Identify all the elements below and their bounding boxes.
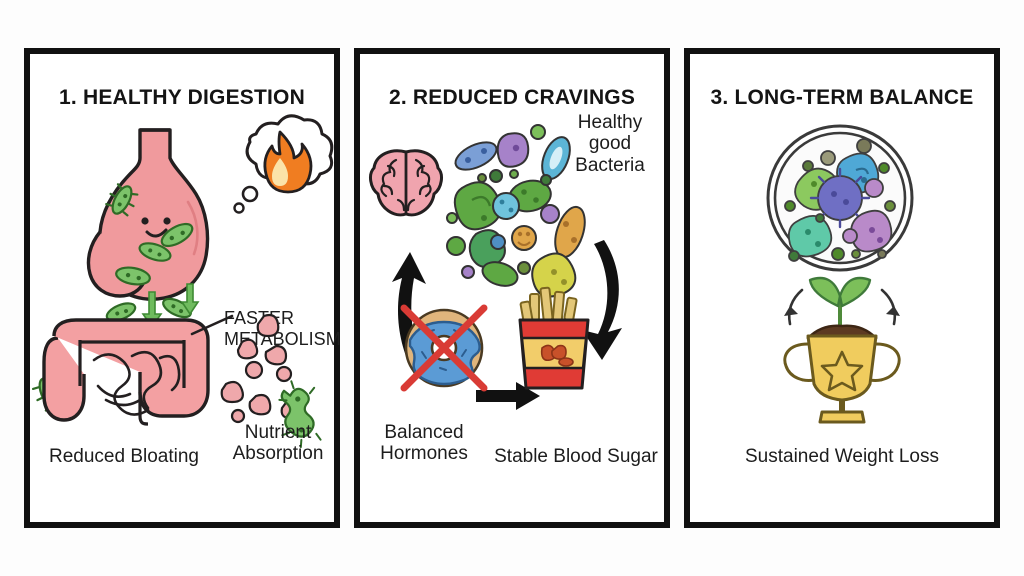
trophy-base bbox=[820, 412, 864, 422]
panel-title: 1. HEALTHY DIGESTION bbox=[30, 86, 334, 110]
fries-sticks bbox=[520, 288, 577, 323]
panel-title: 3. LONG-TERM BALANCE bbox=[690, 86, 994, 110]
digestive-system-illustration bbox=[36, 124, 246, 424]
panel-title: 2. REDUCED CRAVINGS bbox=[360, 86, 664, 110]
panel-long-term-balance: 3. LONG-TERM BALANCE bbox=[684, 48, 1000, 528]
caption-reduced-bloating: Reduced Bloating bbox=[34, 446, 214, 467]
thought-bubble-small bbox=[235, 204, 244, 213]
curved-arrow-right-icon bbox=[882, 290, 900, 324]
panel-healthy-digestion: 1. HEALTHY DIGESTION bbox=[24, 48, 340, 528]
caption-stable-blood-sugar: Stable Blood Sugar bbox=[478, 446, 674, 467]
caption-sustained-weight-loss: Sustained Weight Loss bbox=[690, 446, 994, 467]
trophy-icon bbox=[772, 272, 912, 432]
healthy-good-bacteria-label: Healthy good Bacteria bbox=[556, 112, 664, 176]
donut-crossed-out-icon bbox=[396, 300, 492, 396]
intestines-icon bbox=[44, 320, 208, 424]
thought-bubble-large bbox=[243, 187, 257, 201]
fries-packet-icon bbox=[506, 286, 606, 396]
stomach-eye-left bbox=[141, 217, 148, 224]
curved-arrow-left-icon bbox=[784, 290, 802, 324]
flame-thought-bubble-icon bbox=[226, 116, 336, 236]
petri-dish-icon bbox=[764, 122, 916, 274]
caption-nutrient-absorption: Nutrient Absorption bbox=[216, 422, 340, 465]
caption-balanced-hormones: Balanced Hormones bbox=[358, 422, 490, 465]
panel-reduced-cravings: 2. REDUCED CRAVINGS bbox=[354, 48, 670, 528]
stomach-eye-right bbox=[163, 217, 170, 224]
infographic-board: 1. HEALTHY DIGESTION bbox=[0, 0, 1024, 576]
